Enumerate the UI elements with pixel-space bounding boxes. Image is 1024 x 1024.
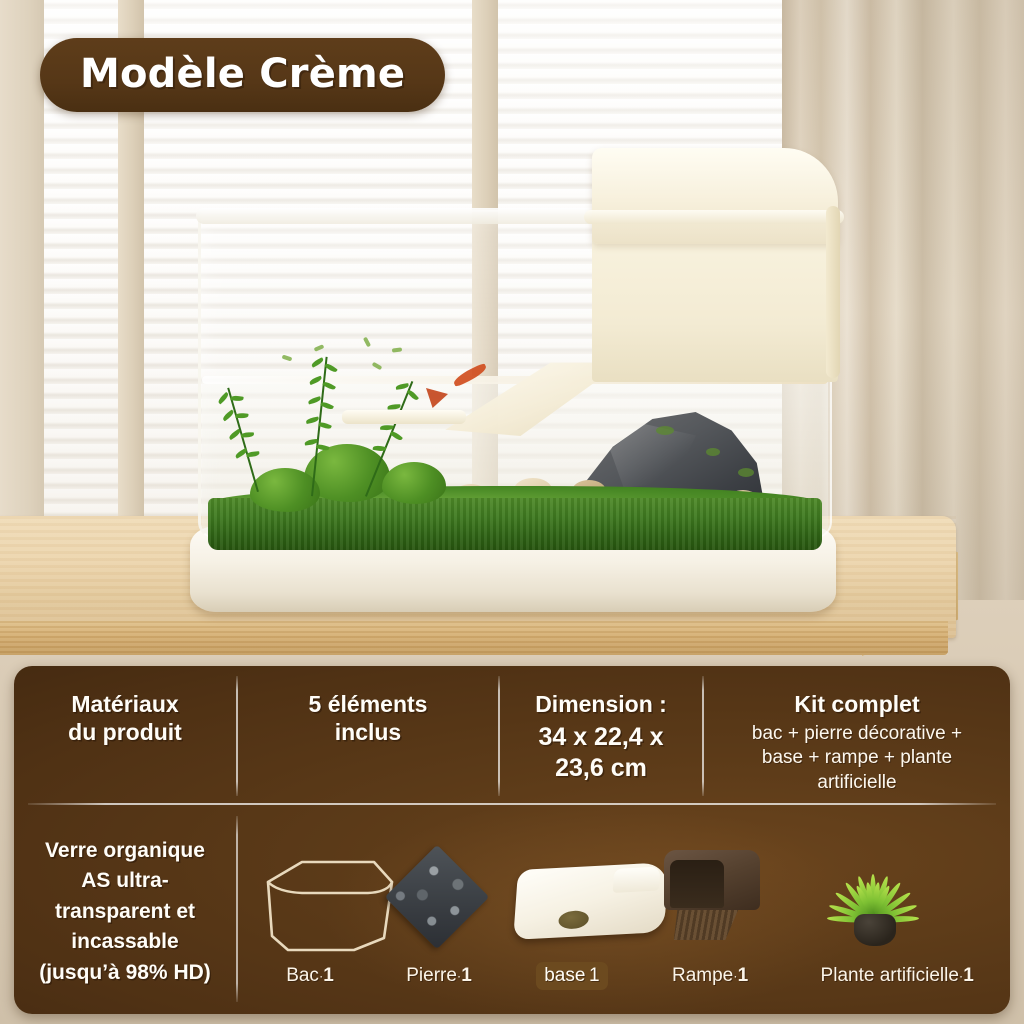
- ramp-tunnel-shape: [654, 844, 774, 944]
- ramp-tongue: [674, 906, 740, 940]
- cell-dimension-value-line2: 23,6 cm: [555, 753, 647, 784]
- cell-materials: Matériaux du produit: [14, 674, 236, 746]
- model-badge: Modèle Crème: [40, 38, 445, 112]
- item-rampe-count: 1: [738, 965, 749, 986]
- item-rampe-name: Rampe: [672, 965, 733, 986]
- aquarium-lid-lip: [584, 210, 844, 224]
- infographic-root: Modèle Crème Matériaux du produit 5 élém…: [0, 0, 1024, 1024]
- cell-dimension-value-line1: 34 x 22,4 x: [538, 722, 663, 753]
- cell-elements-title-line2: inclus: [335, 718, 401, 746]
- item-base-label: base 1: [536, 962, 607, 990]
- green-plant-shape: [820, 830, 930, 946]
- gravel-stone-icon: [370, 826, 508, 962]
- aquarium-lid: [592, 148, 838, 244]
- ramp-mouth: [670, 860, 724, 908]
- material-line-3: transparent et: [55, 897, 195, 927]
- included-items-strip: Bac·1 Pierre·1: [250, 816, 1010, 1012]
- aquarium: [186, 148, 844, 618]
- cell-dimension-title: Dimension :: [535, 690, 667, 718]
- ramp-tunnel-icon: [636, 826, 785, 962]
- item-bac: Bac·1: [250, 816, 370, 1012]
- tank-outline-icon: [250, 826, 370, 962]
- gravel-stone-shape: [385, 845, 490, 950]
- cell-elements-title-line1: 5 éléments: [309, 690, 428, 718]
- panel-divider-vertical: [236, 816, 238, 1002]
- fern-leaf: [387, 404, 400, 409]
- item-pierre: Pierre·1: [370, 816, 508, 1012]
- info-panel: Matériaux du produit 5 éléments inclus D…: [14, 666, 1010, 1014]
- aquarium-glass-rim: [196, 208, 636, 224]
- panel-divider-horizontal: [28, 803, 996, 805]
- moss-clump: [250, 468, 320, 512]
- item-plante-name: Plante artificielle: [821, 965, 959, 986]
- rock-moss: [706, 448, 720, 456]
- moss-clump: [382, 462, 446, 504]
- green-plant-icon: [784, 826, 1010, 962]
- material-line-1: Verre organique: [45, 836, 205, 866]
- cell-materials-title-line2: du produit: [68, 718, 182, 746]
- rock-moss: [656, 426, 674, 435]
- material-line-2: AS ultra-: [81, 866, 169, 896]
- aquarium-lid-body: [592, 236, 838, 382]
- item-pierre-count: 1: [461, 965, 472, 986]
- item-base-count: 1: [589, 965, 600, 986]
- cell-material-description: Verre organique AS ultra- transparent et…: [14, 812, 236, 1012]
- item-pierre-name: Pierre: [406, 965, 457, 986]
- item-plante: Plante artificielle·1: [784, 816, 1010, 1012]
- item-bac-count: 1: [323, 965, 334, 986]
- item-bac-label: Bac·1: [278, 962, 342, 990]
- item-rampe: Rampe·1: [636, 816, 785, 1012]
- item-rampe-label: Rampe·1: [664, 962, 756, 990]
- cell-kit-title: Kit complet: [794, 690, 919, 718]
- plant-pot: [854, 914, 896, 946]
- cell-kit: Kit complet bac + pierre décorative + ba…: [704, 674, 1010, 795]
- cell-elements: 5 éléments inclus: [238, 674, 498, 746]
- material-line-5: (jusqu’à 98% HD): [39, 958, 211, 988]
- table-edge: [0, 621, 948, 655]
- item-pierre-label: Pierre·1: [398, 962, 480, 990]
- cell-materials-title-line1: Matériaux: [71, 690, 178, 718]
- aquarium-lid-handle: [826, 206, 840, 378]
- item-plante-label: Plante artificielle·1: [813, 962, 982, 990]
- rock-moss: [738, 468, 754, 477]
- item-base-name: base: [544, 965, 585, 986]
- cell-dimension: Dimension : 34 x 22,4 x 23,6 cm: [500, 674, 702, 785]
- cell-kit-sub-line2: base + rampe + plante: [762, 746, 952, 770]
- material-line-4: incassable: [71, 927, 178, 957]
- model-badge-label: Modèle Crème: [80, 51, 405, 97]
- cell-kit-sub-line1: bac + pierre décorative +: [752, 722, 962, 746]
- white-tray-icon: [508, 826, 636, 962]
- item-bac-name: Bac: [286, 965, 319, 986]
- tray-hole: [558, 910, 589, 930]
- ramp-plate: [342, 410, 466, 424]
- item-base: base 1: [508, 816, 636, 1012]
- item-plante-count: 1: [963, 965, 974, 986]
- cell-kit-sub-line3: artificielle: [817, 771, 896, 795]
